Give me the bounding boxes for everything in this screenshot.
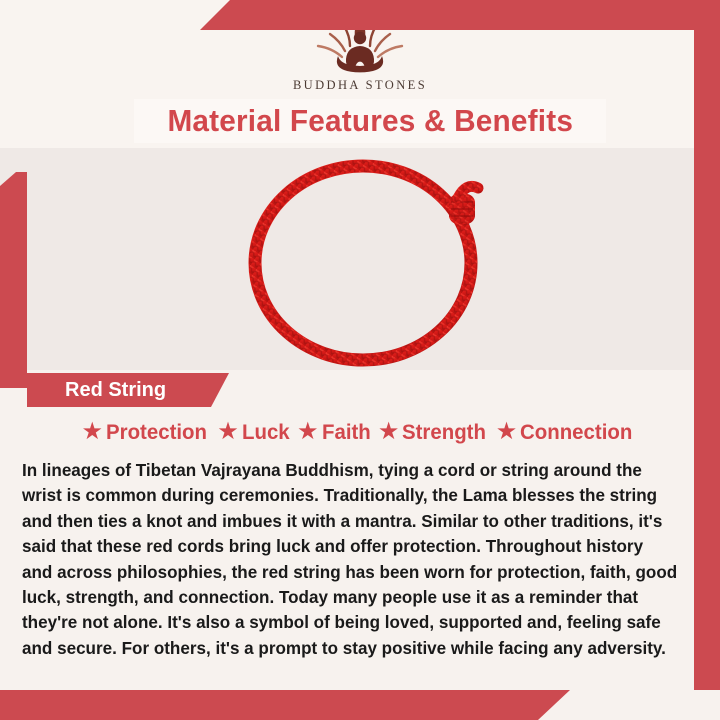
title-banner: Material Features & Benefits — [134, 99, 606, 143]
red-string-bracelet-illustration — [230, 148, 500, 370]
decorative-bar-bottom — [0, 690, 570, 720]
star-icon: ★ — [496, 420, 518, 444]
brand-wordmark: BUDDHA STONES — [0, 78, 720, 93]
star-icon: ★ — [81, 420, 103, 444]
bracelet-image — [230, 148, 500, 370]
decorative-bar-top — [200, 0, 720, 30]
product-name-label: Red String — [27, 379, 166, 402]
star-icon: ★ — [297, 420, 319, 444]
benefit-item: ★ Strength — [378, 420, 491, 445]
benefit-item: ★ Faith — [297, 420, 373, 445]
benefit-label: Protection — [106, 420, 207, 445]
benefit-label: Strength — [402, 420, 486, 445]
description-text: In lineages of Tibetan Vajrayana Buddhis… — [22, 458, 678, 661]
benefit-item: ★ Luck — [217, 420, 292, 445]
star-icon: ★ — [378, 420, 400, 444]
benefits-row: ★ Protection ★ Luck ★ Faith ★ Strength ★… — [0, 420, 720, 445]
benefit-label: Luck — [242, 420, 290, 445]
product-photo-area — [0, 148, 720, 370]
benefit-label: Faith — [322, 420, 371, 445]
decorative-bar-right — [694, 0, 720, 690]
page-title: Material Features & Benefits — [167, 103, 573, 139]
benefit-item: ★ Connection — [496, 420, 639, 445]
product-name-banner: Red String — [27, 373, 229, 407]
star-icon: ★ — [217, 420, 239, 444]
decorative-bar-left — [0, 172, 27, 388]
benefit-label: Connection — [520, 420, 632, 445]
infographic-card: BUDDHA STONES Material Features & Benefi… — [0, 0, 720, 720]
benefit-item: ★ Protection — [81, 420, 212, 445]
